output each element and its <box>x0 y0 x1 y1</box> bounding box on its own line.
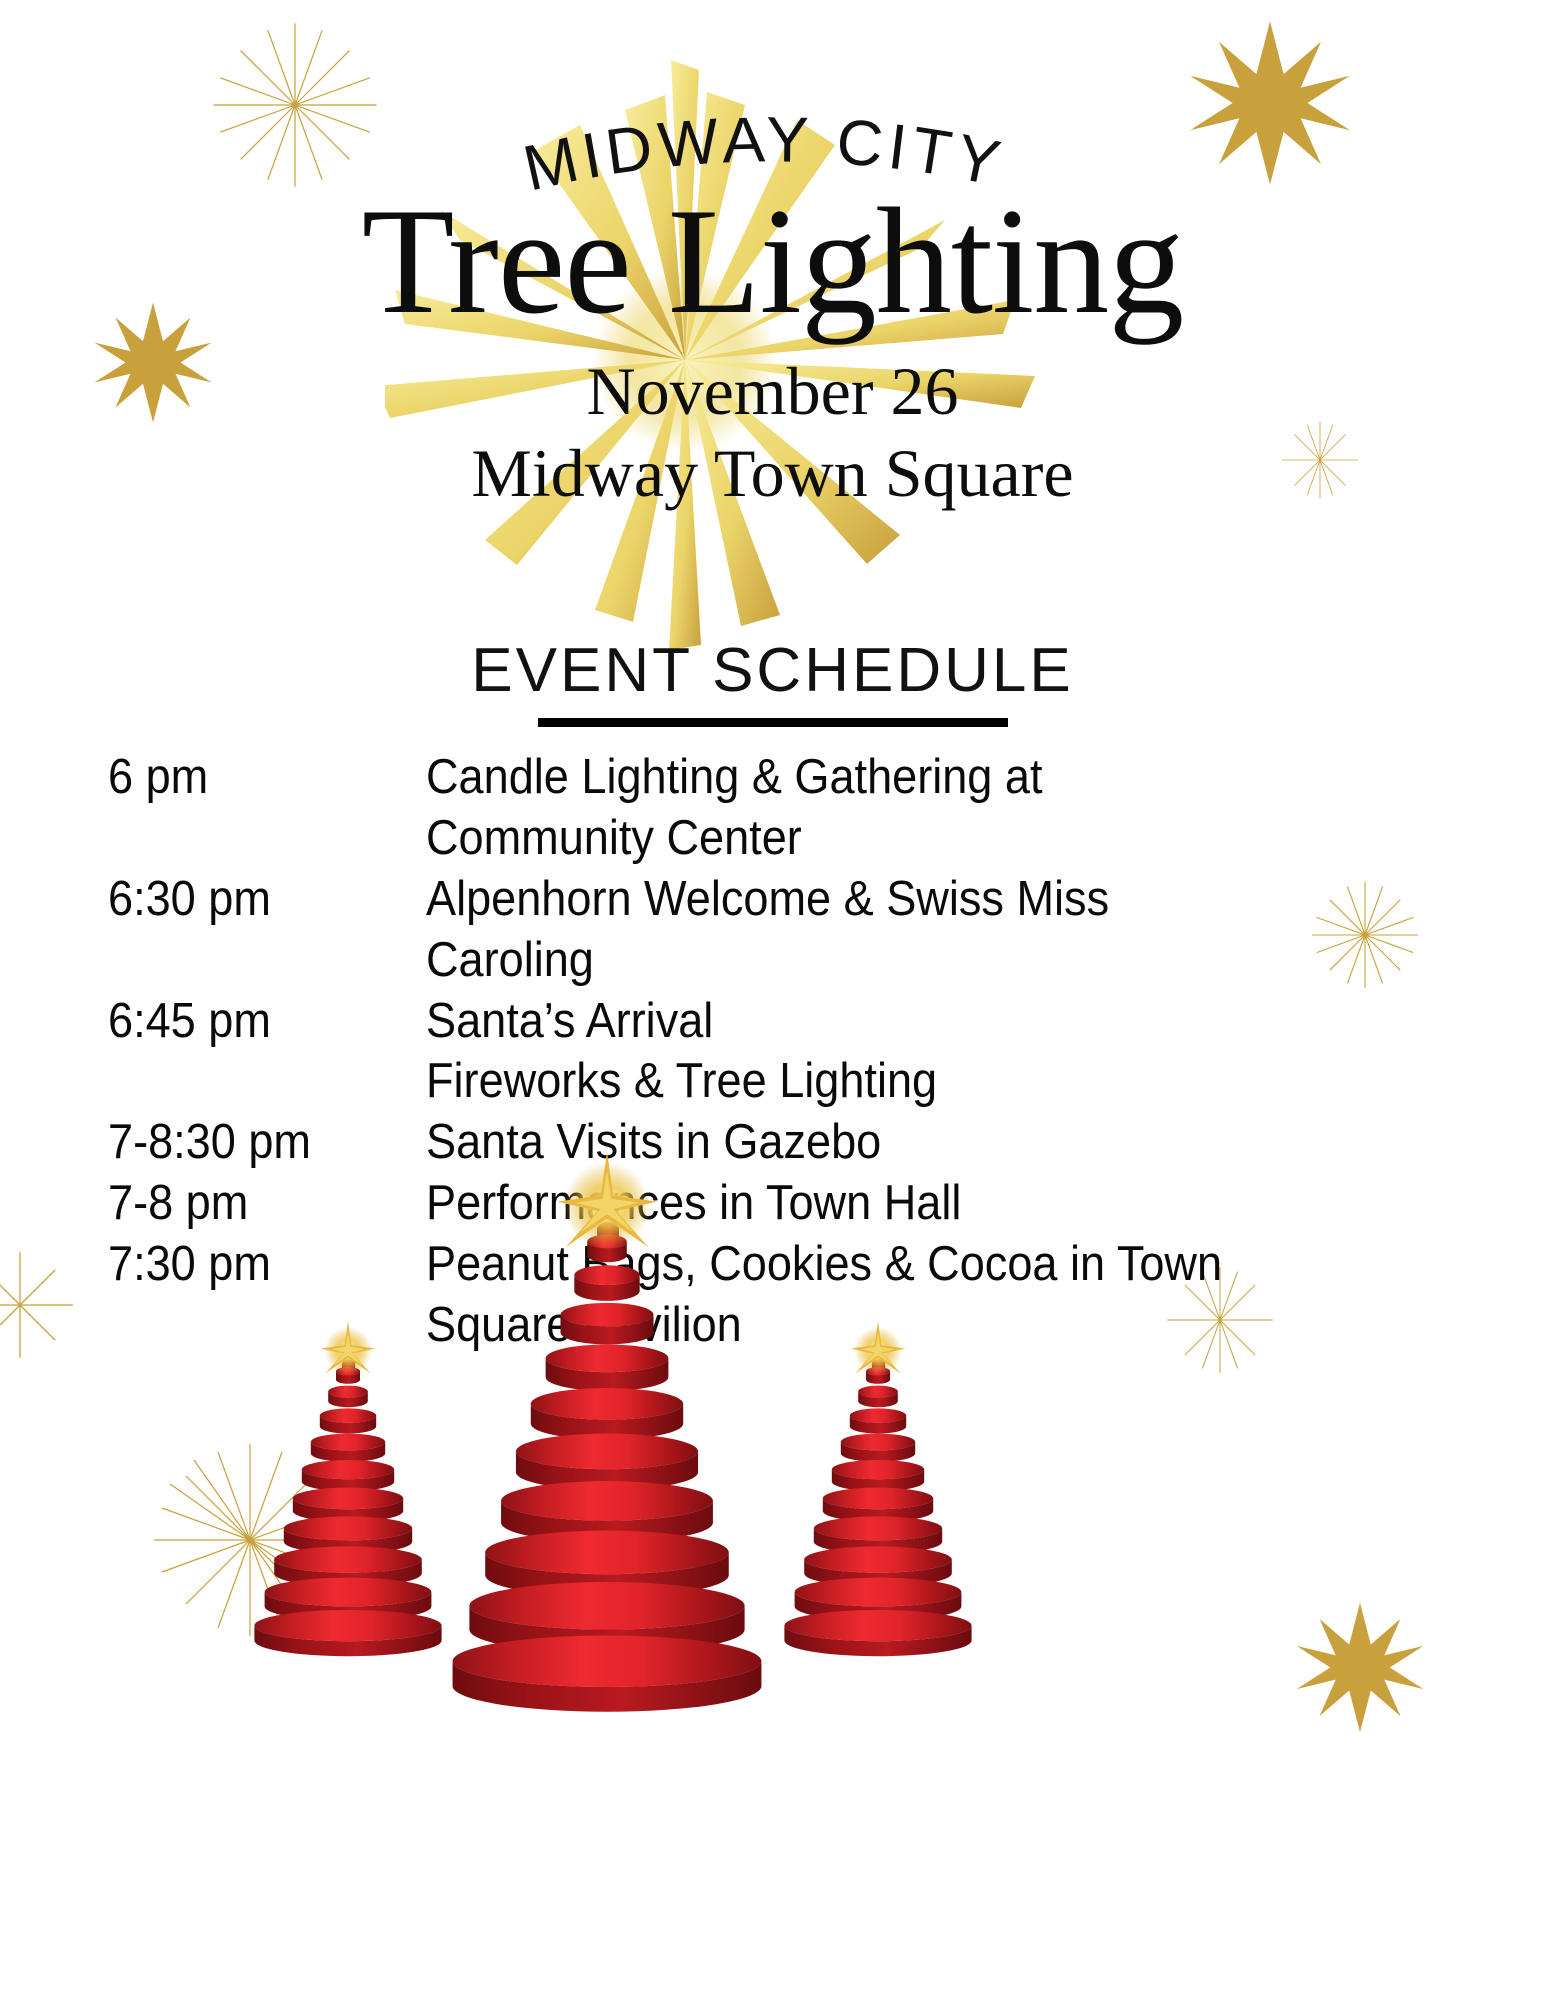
schedule-row: 6:30 pmAlpenhorn Welcome & Swiss Miss <box>108 872 1468 933</box>
schedule-row: 6 pmCandle Lighting & Gathering at <box>108 750 1468 811</box>
schedule-time-spacer <box>108 811 401 872</box>
schedule-row-continuation: Caroling <box>108 933 1468 994</box>
page-title: Tree Lighting <box>0 185 1545 337</box>
schedule-time: 6:30 pm <box>108 872 401 933</box>
schedule-heading-underline <box>538 718 1008 727</box>
schedule-description: Alpenhorn Welcome & Swiss Miss <box>426 872 1385 933</box>
christmas-tree-left <box>254 1321 441 1656</box>
schedule-time-spacer <box>108 933 401 994</box>
schedule-description: Santa’s Arrival <box>426 994 1385 1055</box>
schedule-description-line2: Community Center <box>426 811 1385 872</box>
christmas-tree-right <box>784 1321 971 1656</box>
schedule-row-continuation: Community Center <box>108 811 1468 872</box>
schedule-description-line2: Caroling <box>426 933 1385 994</box>
schedule-time: 6:45 pm <box>108 994 401 1055</box>
event-location: Midway Town Square <box>0 433 1545 513</box>
flyer-page: MIDWAY CITY Tree Lighting November 26 Mi… <box>0 0 1545 2000</box>
schedule-time: 6 pm <box>108 750 401 811</box>
schedule-heading-block: EVENT SCHEDULE <box>0 640 1545 727</box>
schedule-row: 6:45 pmSanta’s Arrival <box>108 994 1468 1055</box>
schedule-description-line2: Fireworks & Tree Lighting <box>426 1054 1385 1115</box>
schedule-heading: EVENT SCHEDULE <box>471 640 1073 702</box>
event-date: November 26 <box>0 351 1545 431</box>
schedule-time-spacer <box>108 1054 401 1115</box>
christmas-trees-illustration <box>0 1150 1545 2000</box>
schedule-row-continuation: Fireworks & Tree Lighting <box>108 1054 1468 1115</box>
schedule-description: Candle Lighting & Gathering at <box>426 750 1385 811</box>
title-block: Tree Lighting November 26 Midway Town Sq… <box>0 185 1545 513</box>
christmas-tree-center <box>453 1152 762 1712</box>
